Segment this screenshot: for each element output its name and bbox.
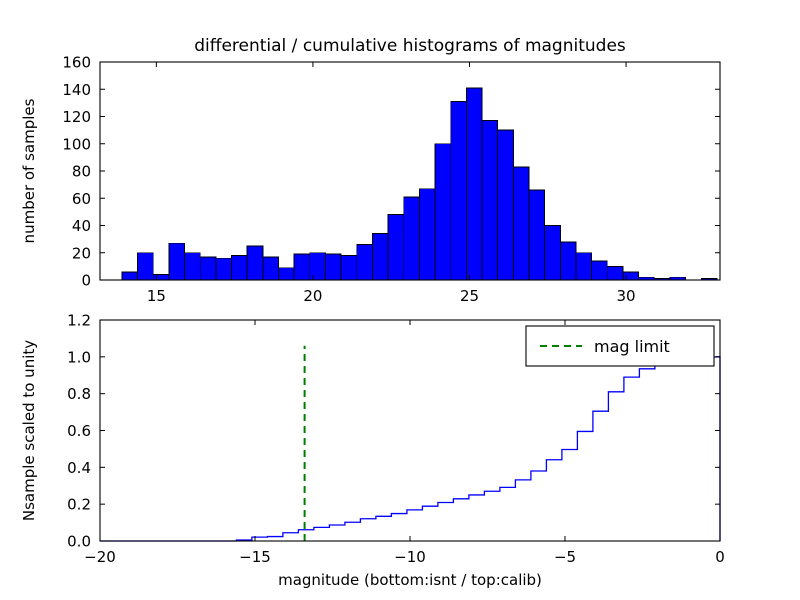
- x-tick-label: 0: [715, 548, 725, 566]
- y-tick-label: 1.0: [67, 348, 91, 366]
- histogram-bar: [325, 254, 341, 280]
- histogram-bars: [122, 88, 717, 280]
- histogram-bar: [529, 190, 545, 280]
- y-tick-label: 100: [62, 135, 91, 153]
- histogram-bar: [153, 275, 169, 280]
- x-tick-label: −15: [239, 548, 271, 566]
- y-tick-label: 0.8: [67, 385, 91, 403]
- x-tick-label: 20: [303, 287, 322, 305]
- histogram-bar: [576, 253, 592, 280]
- bottom-axes-ylabel: Nsample scaled to unity: [20, 340, 38, 521]
- y-tick-label: 20: [72, 244, 91, 262]
- bottom-axes-xlabel: magnitude (bottom:isnt / top:calib): [278, 571, 542, 589]
- x-tick-label: 25: [460, 287, 479, 305]
- y-tick-label: 40: [72, 217, 91, 235]
- y-tick-label: 1.2: [67, 312, 91, 330]
- matplotlib-figure: 02040608010012014016015202530number of s…: [0, 0, 800, 600]
- histogram-bar: [623, 272, 639, 280]
- histogram-bar: [513, 167, 529, 280]
- histogram-bar: [607, 266, 623, 280]
- histogram-bar: [263, 257, 279, 280]
- y-tick-label: 0.6: [67, 422, 91, 440]
- histogram-bar: [169, 243, 185, 280]
- y-tick-label: 140: [62, 81, 91, 99]
- x-tick-label: 15: [147, 287, 166, 305]
- x-tick-label: −10: [394, 548, 426, 566]
- histogram-bar: [482, 121, 498, 280]
- x-tick-label: −20: [84, 548, 116, 566]
- histogram-bar: [232, 255, 248, 280]
- histogram-bar: [545, 226, 561, 281]
- top-axes-ylabel: number of samples: [20, 98, 38, 243]
- histogram-bar: [451, 102, 467, 280]
- histogram-bar: [278, 268, 294, 280]
- histogram-bar: [419, 189, 435, 280]
- cumulative-curve: [100, 357, 720, 541]
- histogram-bar: [200, 257, 216, 280]
- histogram-bar: [341, 255, 357, 280]
- histogram-bar: [185, 253, 201, 280]
- top-axes-differential-histogram: 02040608010012014016015202530number of s…: [20, 36, 720, 305]
- histogram-bar: [357, 245, 373, 280]
- histogram-bar: [404, 197, 420, 280]
- y-tick-label: 60: [72, 190, 91, 208]
- histogram-bar: [216, 258, 232, 280]
- figure-title: differential / cumulative histograms of …: [194, 36, 626, 56]
- histogram-bar: [388, 215, 404, 280]
- y-tick-label: 80: [72, 163, 91, 181]
- y-tick-label: 120: [62, 108, 91, 126]
- histogram-bar: [138, 253, 154, 280]
- figure-canvas: 02040608010012014016015202530number of s…: [0, 0, 800, 600]
- histogram-bar: [466, 88, 482, 280]
- bottom-axes-cumulative-histogram: 0.00.20.40.60.81.01.2−20−15−10−50Nsample…: [20, 312, 725, 590]
- histogram-bar: [247, 246, 263, 280]
- y-tick-label: 0.4: [67, 459, 91, 477]
- histogram-bar: [592, 261, 608, 280]
- legend[interactable]: mag limit: [526, 326, 714, 366]
- y-tick-label: 0: [81, 272, 91, 290]
- x-tick-label: 30: [617, 287, 636, 305]
- histogram-bar: [294, 254, 310, 280]
- histogram-bar: [310, 253, 326, 280]
- histogram-bar: [122, 272, 138, 280]
- x-tick-label: −5: [554, 548, 576, 566]
- histogram-bar: [435, 144, 451, 280]
- y-tick-label: 160: [62, 54, 91, 72]
- histogram-bar: [372, 234, 388, 280]
- legend-label-mag-limit: mag limit: [594, 337, 670, 356]
- y-tick-label: 0.2: [67, 496, 91, 514]
- histogram-bar: [560, 242, 576, 280]
- histogram-bar: [498, 130, 514, 280]
